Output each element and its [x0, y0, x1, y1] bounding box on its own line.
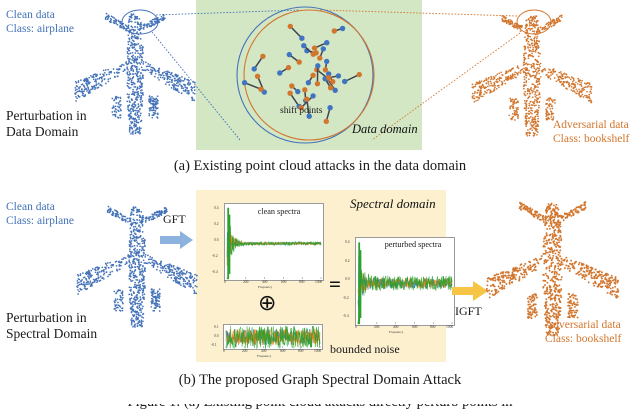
clean-xtick-2: 400 — [262, 280, 267, 284]
clean-data-line2-b: Class: airplane — [6, 215, 74, 227]
clean-xtick-3: 600 — [281, 280, 286, 284]
clean-ytick-1: 0.2 — [214, 222, 219, 226]
pert-xtick-3: 600 — [412, 325, 417, 329]
pert-xlabel: Frequency — [389, 330, 403, 334]
noise-xtick-4: 800 — [298, 349, 303, 353]
gft-arrow-icon — [160, 230, 198, 252]
perturbation-label-b: Perturbation in Spectral Domain — [6, 310, 97, 343]
shift-points-label: shift points — [280, 106, 323, 118]
clean-data-line1-b: Clean data — [6, 201, 55, 213]
perturbation-line1-b: Perturbation in — [6, 310, 87, 325]
igft-label: IGFT — [455, 304, 482, 319]
noise-xtick-5: 1000 — [314, 349, 321, 353]
clean-xtick-4: 800 — [299, 280, 304, 284]
clean-xtick-0: 0 — [224, 280, 226, 284]
noise-xtick-3: 600 — [280, 349, 285, 353]
panel-b-caption: (b) The proposed Graph Spectral Domain A… — [0, 372, 640, 389]
equals-operator: = — [329, 272, 341, 297]
gft-label: GFT — [163, 212, 186, 227]
clean-xtick-5: 1000 — [315, 280, 322, 284]
pert-xtick-1: 200 — [374, 325, 379, 329]
clean-xlabel: Frequency — [258, 285, 272, 289]
bounded-noise-plot — [223, 324, 323, 350]
perturbation-line2-b: Spectral Domain — [6, 326, 97, 341]
perturbed-spectra-plot — [355, 237, 455, 326]
pert-xtick-2: 400 — [393, 325, 398, 329]
noise-xtick-1: 200 — [242, 349, 247, 353]
adv-data-line2-b: Class: bookshelf — [545, 333, 621, 345]
pert-ytick-0: 0.4 — [345, 240, 350, 244]
clean-ytick-3: -0.2 — [212, 254, 218, 258]
noise-ytick-0: 0.1 — [214, 325, 219, 329]
noise-ytick-2: -0.1 — [211, 343, 217, 347]
adv-data-line2-a: Class: bookshelf — [553, 133, 629, 145]
clean-xtick-1: 200 — [243, 280, 248, 284]
figure-caption-text: Figure 1: (a) Existing point cloud attac… — [0, 404, 640, 411]
noise-ytick-1: 0.0 — [214, 334, 219, 338]
data-domain-label: Data domain — [352, 122, 418, 137]
clean-ytick-4: -0.4 — [212, 270, 218, 274]
figure-caption-cropped: Figure 1: (a) Existing point cloud attac… — [0, 404, 640, 416]
noise-xtick-0: 0 — [223, 349, 225, 353]
pert-ytick-1: 0.2 — [345, 259, 350, 263]
pert-ytick-2: 0.0 — [345, 277, 350, 281]
pert-ytick-3: -0.2 — [343, 296, 349, 300]
bounded-noise-label: bounded noise — [330, 342, 400, 357]
clean-ytick-2: 0.0 — [214, 238, 219, 242]
pert-ytick-4: -0.4 — [343, 314, 349, 318]
clean-spectra-title: clean spectra — [244, 207, 314, 216]
clean-data-label-b: Clean data Class: airplane — [6, 200, 74, 228]
perturbed-spectra-title: perturbed spectra — [372, 240, 454, 249]
noise-xtick-2: 400 — [261, 349, 266, 353]
noise-xlabel: Frequency — [257, 354, 271, 358]
spectral-domain-label: Spectral domain — [350, 196, 436, 212]
adversarial-data-label-b: Adversarial data Class: bookshelf — [545, 318, 621, 346]
adv-data-line1-a: Adversarial data — [553, 119, 629, 131]
adv-data-line1-b: Adversarial data — [545, 319, 621, 331]
clean-ytick-0: 0.4 — [214, 206, 219, 210]
adversarial-data-label-a: Adversarial data Class: bookshelf — [553, 118, 629, 146]
panel-a-caption: (a) Existing point cloud attacks in the … — [0, 158, 640, 175]
pert-xtick-5: 1000 — [446, 325, 453, 329]
plus-operator: ⊕ — [258, 292, 276, 314]
pert-xtick-0: 0 — [355, 325, 357, 329]
pert-xtick-4: 800 — [430, 325, 435, 329]
